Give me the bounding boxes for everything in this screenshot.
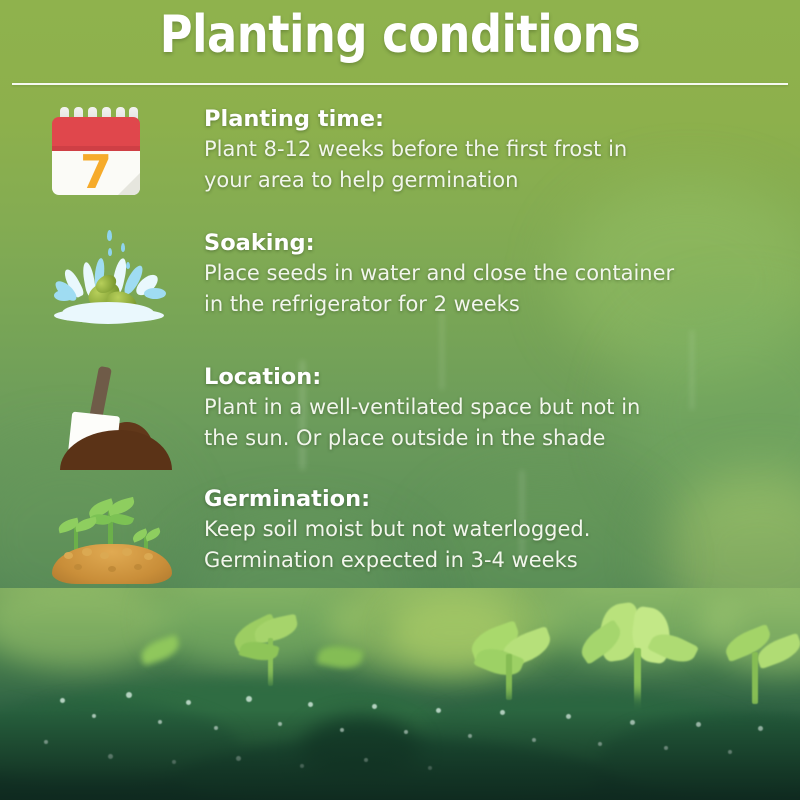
page-title: Planting conditions	[56, 4, 744, 66]
water-splash-graphic	[48, 228, 173, 338]
section-heading: Soaking:	[204, 228, 790, 258]
soil-texture	[144, 553, 153, 560]
soil-texture	[64, 552, 73, 559]
shovel-graphic	[48, 362, 178, 470]
poster-root: Planting conditions 7 Planting time: Pla…	[0, 0, 800, 800]
dew-drop	[246, 696, 252, 702]
section-germination: Germination: Keep soil moist but not wat…	[0, 484, 800, 600]
section-soaking: Soaking: Place seeds in water and close …	[0, 228, 800, 344]
section-text: Soaking: Place seeds in water and close …	[204, 228, 790, 320]
section-text: Planting time: Plant 8-12 weeks before t…	[204, 104, 790, 196]
dew-drop	[60, 698, 65, 703]
section-body-line-2: Germination expected in 3-4 weeks	[204, 545, 790, 576]
soil-texture	[82, 548, 92, 556]
section-body-line-1: Place seeds in water and close the conta…	[204, 258, 790, 289]
poster-header: Planting conditions	[0, 0, 800, 96]
section-heading: Location:	[204, 362, 790, 392]
dew-drop	[186, 700, 191, 705]
section-heading: Germination:	[204, 484, 790, 514]
shovel-in-soil-icon	[30, 362, 170, 472]
soil-texture	[74, 564, 82, 570]
splash-arm	[54, 290, 74, 301]
calendar-graphic: 7	[52, 107, 140, 195]
photo-stem	[752, 652, 758, 704]
bottom-photo-band	[0, 588, 800, 800]
splash-arm	[144, 288, 166, 299]
photo-foreground-shadow	[0, 710, 800, 800]
section-body-line-1: Plant 8-12 weeks before the first frost …	[204, 134, 790, 165]
section-body-line-2: in the refrigerator for 2 weeks	[204, 289, 790, 320]
soil-texture	[108, 566, 116, 572]
soil-mound	[52, 544, 172, 584]
soil-texture	[122, 548, 132, 556]
calendar-icon: 7	[30, 104, 170, 214]
section-text: Germination: Keep soil moist but not wat…	[204, 484, 790, 576]
sprout-leaf	[144, 528, 162, 542]
section-heading: Planting time:	[204, 104, 790, 134]
section-body-line-2: your area to help germination	[204, 165, 790, 196]
photo-stem	[506, 654, 512, 700]
soil-texture	[134, 564, 142, 570]
water-droplet	[108, 248, 112, 256]
seedlings-graphic	[46, 486, 176, 586]
section-location: Location: Plant in a well-ventilated spa…	[0, 362, 800, 478]
water-puddle	[54, 308, 164, 323]
section-body-line-1: Keep soil moist but not waterlogged.	[204, 514, 790, 545]
water-droplet	[121, 243, 125, 252]
dew-drop	[308, 702, 313, 707]
water-splash-seeds-icon	[30, 228, 170, 338]
dew-drop	[372, 704, 377, 709]
seedlings-icon	[30, 484, 170, 594]
section-text: Location: Plant in a well-ventilated spa…	[204, 362, 790, 454]
section-planting-time: 7 Planting time: Plant 8-12 weeks before…	[0, 104, 800, 220]
section-body-line-1: Plant in a well-ventilated space but not…	[204, 392, 790, 423]
soil-texture	[100, 552, 109, 559]
water-droplet	[107, 230, 112, 241]
header-divider	[12, 83, 788, 85]
water-droplet	[126, 262, 130, 269]
calendar-day-number: 7	[52, 147, 140, 197]
dew-drop	[126, 692, 132, 698]
section-body-line-2: the sun. Or place outside in the shade	[204, 423, 790, 454]
